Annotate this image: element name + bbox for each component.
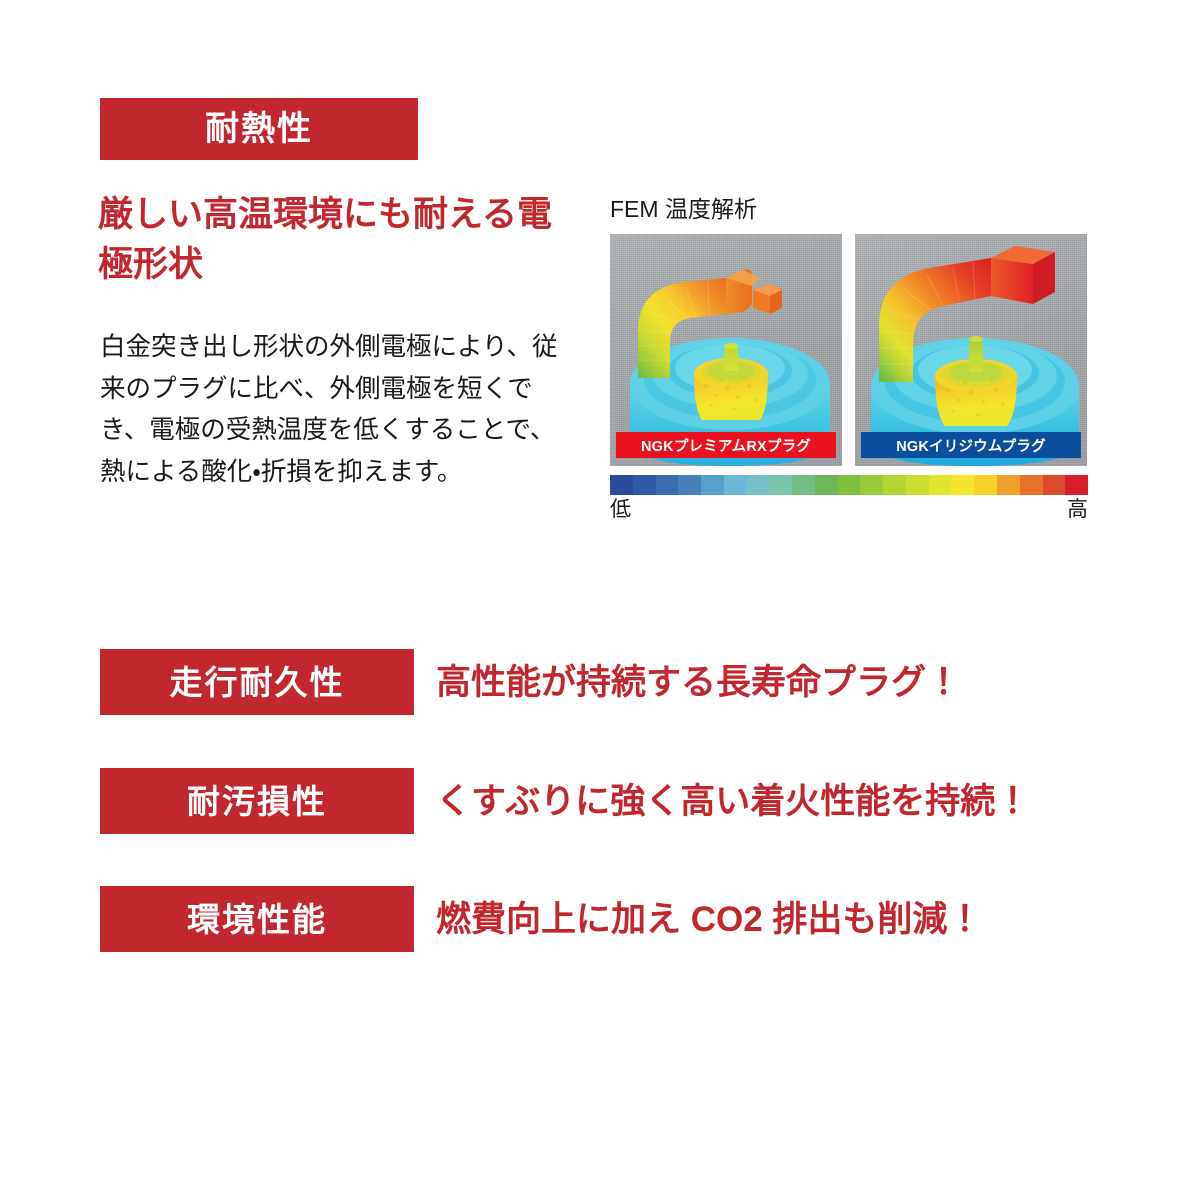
- heat-resistance-badge-label: 耐熱性: [205, 112, 313, 146]
- fem-card-iridium: NGKイリジウムプラグ: [855, 234, 1087, 466]
- fem-color-scale-step-5: [724, 475, 747, 495]
- fem-color-scale: [610, 475, 1088, 495]
- fem-color-scale-step-7: [769, 475, 792, 495]
- fem-color-scale-step-10: [838, 475, 861, 495]
- fem-color-scale-step-18: [1020, 475, 1043, 495]
- fem-scale-high-label: 高: [1067, 497, 1088, 522]
- feature-badge-label-fouling-resistance: 耐汚損性: [187, 785, 327, 818]
- heat-resistance-body-text: 白金突き出し形状の外側電極により、従来のプラグに比べ、外側電極を短くでき、電極の…: [100, 327, 580, 493]
- fem-analysis-title: FEM 温度解析: [610, 198, 1088, 221]
- fem-caption-iridium: NGKイリジウムプラグ: [861, 432, 1081, 458]
- fem-analysis-block: FEM 温度解析: [610, 198, 1088, 522]
- feature-text-environmental: 燃費向上に加え CO2 排出も削減！: [436, 902, 982, 937]
- fem-color-scale-step-19: [1043, 475, 1066, 495]
- fem-image-pair: NGKプレミアムRXプラグ: [610, 234, 1088, 466]
- fem-color-scale-step-3: [678, 475, 701, 495]
- fem-color-scale-step-0: [610, 475, 633, 495]
- fem-color-scale-step-9: [815, 475, 838, 495]
- heat-resistance-heading: 厳しい高温環境にも耐える電極形状: [98, 190, 568, 289]
- fem-color-scale-step-4: [701, 475, 724, 495]
- fem-card-premium-rx: NGKプレミアムRXプラグ: [610, 234, 842, 466]
- fem-color-scale-step-12: [883, 475, 906, 495]
- feature-badge-durability: 走行耐久性: [100, 649, 414, 715]
- feature-text-durability: 高性能が持続する長寿命プラグ！: [436, 665, 961, 700]
- feature-badge-label-environmental: 環境性能: [187, 903, 327, 936]
- fem-color-scale-step-6: [747, 475, 770, 495]
- feature-badge-label-durability: 走行耐久性: [170, 666, 345, 699]
- feature-row-fouling-resistance: 耐汚損性 くすぶりに強く高い着火性能を持続！: [100, 768, 1030, 834]
- fem-color-scale-step-16: [974, 475, 997, 495]
- fem-color-scale-labels: 低 高: [610, 497, 1088, 522]
- fem-color-scale-step-14: [929, 475, 952, 495]
- feature-row-durability: 走行耐久性 高性能が持続する長寿命プラグ！: [100, 649, 961, 715]
- fem-color-scale-step-1: [633, 475, 656, 495]
- fem-color-scale-step-13: [906, 475, 929, 495]
- fem-color-scale-step-20: [1065, 475, 1088, 495]
- heat-resistance-badge: 耐熱性: [100, 98, 418, 160]
- feature-badge-fouling-resistance: 耐汚損性: [100, 768, 414, 834]
- fem-color-scale-step-8: [792, 475, 815, 495]
- feature-badge-environmental: 環境性能: [100, 886, 414, 952]
- fem-color-scale-step-11: [860, 475, 883, 495]
- feature-text-fouling-resistance: くすぶりに強く高い着火性能を持続！: [436, 784, 1030, 819]
- fem-color-scale-step-2: [656, 475, 679, 495]
- feature-row-environmental: 環境性能 燃費向上に加え CO2 排出も削減！: [100, 886, 982, 952]
- fem-color-scale-step-17: [997, 475, 1020, 495]
- fem-scale-low-label: 低: [610, 497, 631, 522]
- fem-caption-premium-rx: NGKプレミアムRXプラグ: [616, 432, 836, 458]
- fem-color-scale-step-15: [951, 475, 974, 495]
